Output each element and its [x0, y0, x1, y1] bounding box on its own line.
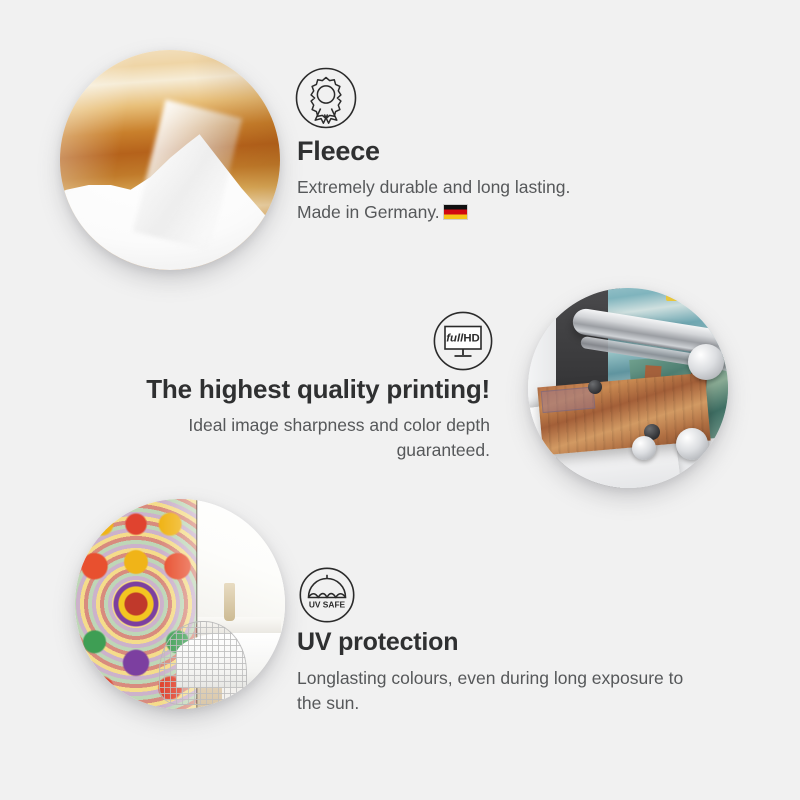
- infographic-stage: Fleece Extremely durable and long lastin…: [0, 0, 800, 800]
- printing-description: Ideal image sharpness and color depth gu…: [90, 413, 490, 463]
- uv-description: Longlasting colours, even during long ex…: [297, 666, 737, 716]
- printer-wheel-right: [688, 344, 724, 380]
- room-candle: [224, 583, 235, 621]
- large-format-printer-photo: [528, 288, 728, 488]
- printing-title: The highest quality printing!: [90, 374, 490, 404]
- uv-description-line-2: the sun.: [297, 691, 737, 716]
- fleece-description-line-2: Made in Germany.: [297, 202, 440, 222]
- full-hd-monitor-icon: fullHD: [433, 311, 493, 371]
- award-ribbon-icon: [295, 67, 357, 129]
- uv-safe-umbrella-icon: UV SAFE: [299, 567, 355, 623]
- printer-wheel-bottom: [676, 428, 708, 460]
- fleece-description-line-1: Extremely durable and long lasting.: [297, 175, 717, 200]
- fleece-description-line-2-row: Made in Germany.: [297, 200, 717, 225]
- uv-safe-label: UV SAFE: [309, 600, 346, 610]
- uv-description-line-1: Longlasting colours, even during long ex…: [297, 666, 737, 691]
- svg-text:fullHD: fullHD: [446, 332, 480, 344]
- printing-text-block: The highest quality printing! Ideal imag…: [90, 374, 490, 463]
- printer-wheel-center: [632, 436, 656, 460]
- fleece-title: Fleece: [297, 136, 717, 166]
- fleece-description: Extremely durable and long lasting. Made…: [297, 175, 717, 225]
- peeling-wallpaper-image: [60, 50, 280, 270]
- fullhd-regular-part: HD: [463, 332, 479, 344]
- uv-text-block: UV protection Longlasting colours, even …: [297, 627, 737, 716]
- uv-title: UV protection: [297, 627, 737, 657]
- german-flag-icon: [443, 204, 468, 220]
- printing-description-line-1: Ideal image sharpness and color depth: [90, 413, 490, 438]
- printer-knob-upper: [588, 380, 602, 394]
- printing-description-line-2: guaranteed.: [90, 438, 490, 463]
- printer-image: [528, 288, 728, 488]
- mandala-room-image: [75, 499, 285, 709]
- fullhd-italic-part: full: [446, 332, 464, 344]
- peeling-wallpaper-photo: [60, 50, 280, 270]
- fleece-text-block: Fleece Extremely durable and long lastin…: [297, 136, 717, 225]
- mandala-wallpaper-room-photo: [75, 499, 285, 709]
